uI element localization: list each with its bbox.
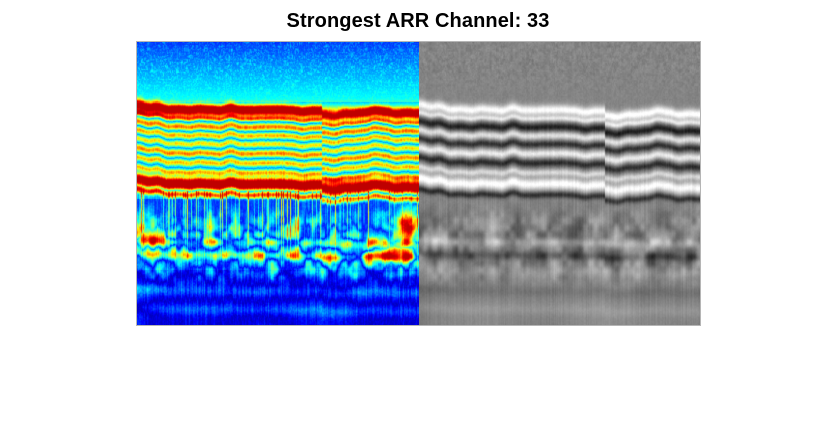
arr-attribute-image bbox=[137, 42, 419, 326]
arr-attribute-panel[interactable] bbox=[137, 42, 419, 326]
axes-container bbox=[136, 41, 701, 326]
figure-canvas: Strongest ARR Channel: 33 bbox=[0, 0, 833, 436]
page-title: Strongest ARR Channel: 33 bbox=[0, 9, 833, 33]
seismic-amplitude-panel[interactable] bbox=[419, 42, 701, 326]
seismic-amplitude-image bbox=[419, 42, 701, 326]
